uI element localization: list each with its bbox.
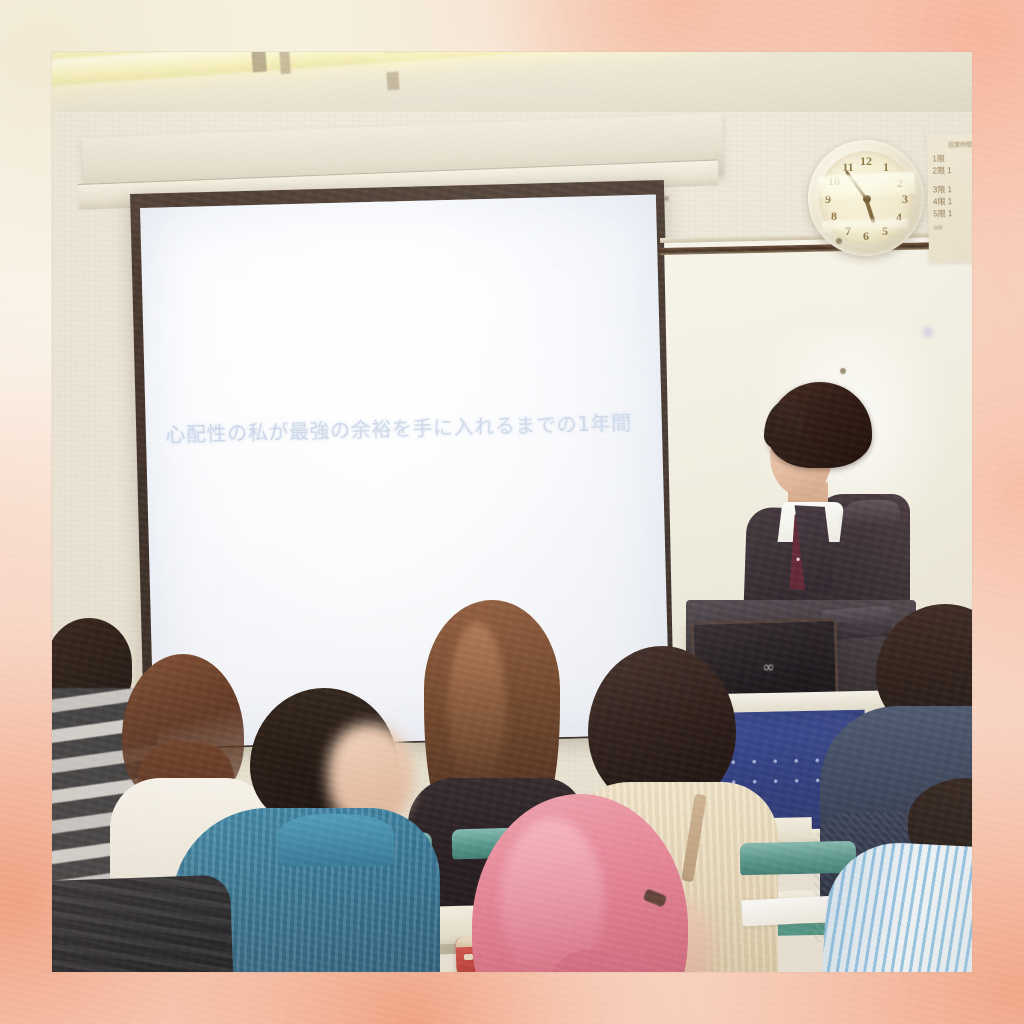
watercolor-frame: Grandview 心配性の私が最強の余裕を手に入れるまでの1年間 12 1 2… xyxy=(0,0,1024,1024)
attendee-turtleneck-collar xyxy=(278,814,394,866)
wall-clock: 12 1 2 3 4 5 6 7 8 9 10 11 xyxy=(808,140,924,256)
clock-numeral-12: 12 xyxy=(858,154,874,169)
sign-mount-screw xyxy=(836,238,842,244)
class-schedule-sign: 授業時間 1限 2限 1 3限 1 4限 1 5限 1 休憩 xyxy=(927,133,972,262)
schedule-row: 3限 1 xyxy=(933,184,972,197)
projection-glow xyxy=(140,194,670,747)
lecture-room-photo: Grandview 心配性の私が最強の余裕を手に入れるまでの1年間 12 1 2… xyxy=(52,52,972,972)
pencil-case-tab xyxy=(464,954,473,960)
presenter-hair-fringe xyxy=(764,400,804,452)
attendee-jacket-quilting xyxy=(52,875,234,972)
schedule-sign-footer: 休憩 xyxy=(933,225,972,232)
screen-housing-screw xyxy=(664,196,669,201)
chair-back xyxy=(740,841,857,875)
clock-center-pin xyxy=(863,195,871,203)
laptop-brand-logo-icon: ∞ xyxy=(752,658,782,677)
attendee-hair-highlight xyxy=(500,818,604,972)
schedule-sign-heading: 授業時間 xyxy=(932,140,972,150)
schedule-row: 5限 1 xyxy=(933,208,972,221)
whiteboard-light-spot xyxy=(920,324,936,340)
schedule-row: 2限 1 xyxy=(932,165,972,178)
light-bracket xyxy=(279,52,291,74)
attendee-hair-highlight xyxy=(448,622,506,792)
clock-numeral-6: 6 xyxy=(858,229,874,244)
light-bracket xyxy=(386,72,399,91)
schedule-row: 1限 xyxy=(932,153,972,166)
schedule-row: 4限 1 xyxy=(933,196,972,209)
sign-mount-screw xyxy=(840,368,846,374)
light-bracket xyxy=(251,52,267,72)
